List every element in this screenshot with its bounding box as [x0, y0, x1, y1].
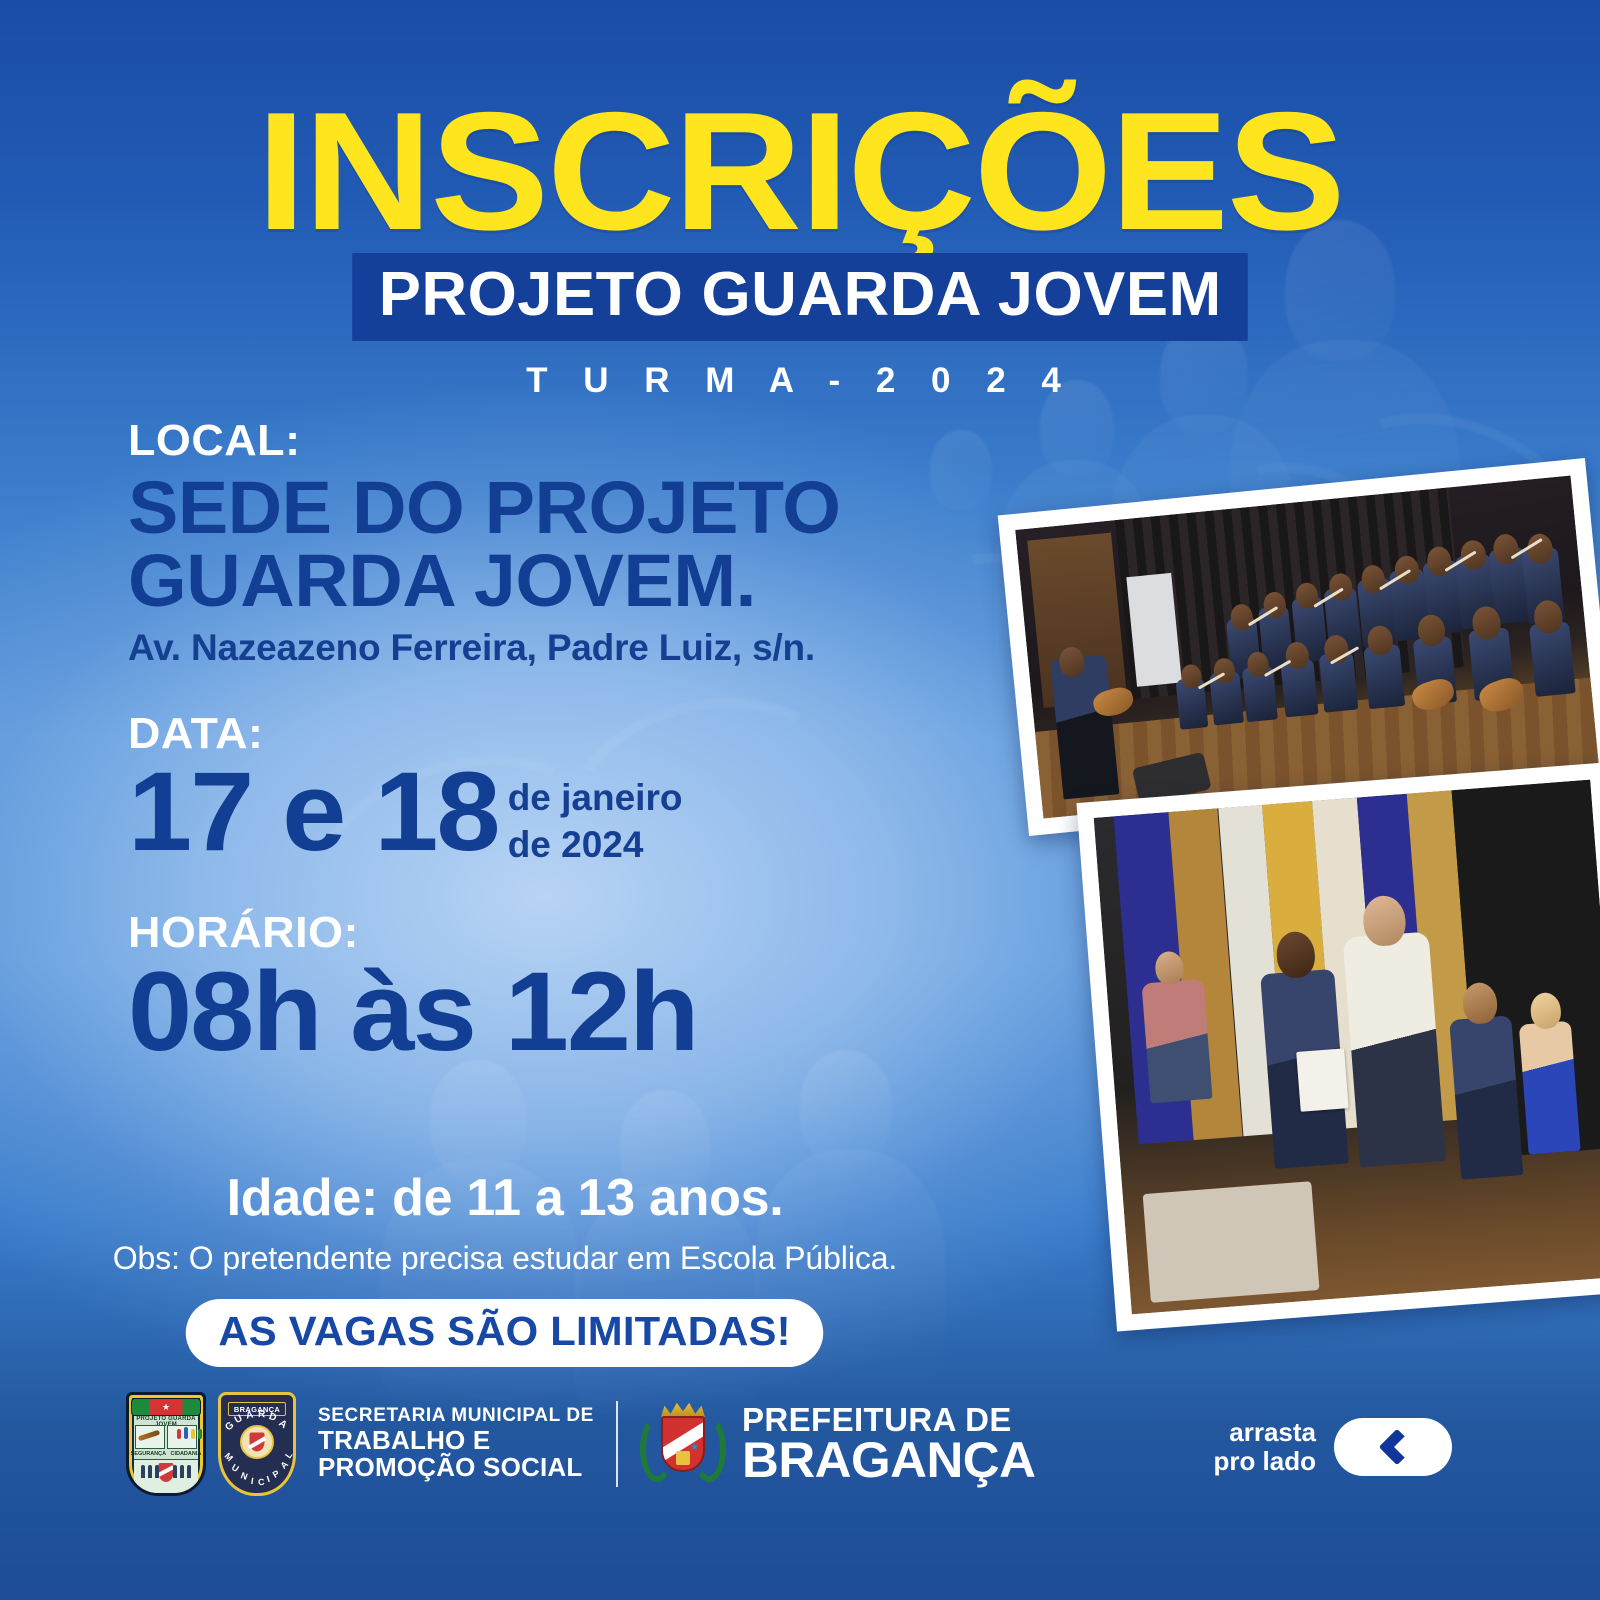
status-badge: AS VAGAS SÃO LIMITADAS! [186, 1299, 824, 1367]
date-month: de janeiro [508, 775, 683, 821]
age-requirement: Idade: de 11 a 13 anos. [0, 1168, 1010, 1228]
date-year: de 2024 [508, 822, 683, 868]
photo-band-inner [1015, 475, 1599, 818]
secretaria-text: SECRETARIA MUNICIPAL DE TRABALHO E PROMO… [318, 1406, 594, 1481]
info-column: LOCAL: SEDE DO PROJETO GUARDA JOVEM. Av.… [128, 418, 928, 1066]
page-subtitle: PROJETO GUARDA JOVEM [352, 253, 1248, 341]
secretaria-line2: TRABALHO E [318, 1427, 594, 1455]
swipe-hint[interactable]: arrasta pro lado [1213, 1418, 1452, 1476]
crest-guarda-municipal-icon: BRAGANÇA G U A R D A M U N I C I P A L [206, 1392, 296, 1496]
time-value: 08h às 12h [128, 958, 952, 1066]
footer-logos: ★ PROJETO GUARDA JOVEM SEGURANÇA CIDADAN… [126, 1392, 1030, 1496]
address-text: Av. Nazeazeno Ferreira, Padre Luiz, s/n. [128, 627, 928, 669]
class-line: T U R M A - 2 0 2 4 [0, 361, 1600, 401]
local-group: LOCAL: SEDE DO PROJETO GUARDA JOVEM. Av.… [128, 418, 928, 669]
local-value: SEDE DO PROJETO GUARDA JOVEM. [128, 472, 944, 617]
swipe-line2: pro lado [1213, 1447, 1316, 1476]
secretaria-line1: SECRETARIA MUNICIPAL DE [318, 1406, 594, 1426]
footer-divider [616, 1401, 618, 1487]
pgj-right-text: CIDADANIA [170, 1451, 201, 1457]
crest-projeto-guarda-jovem-icon: ★ PROJETO GUARDA JOVEM SEGURANÇA CIDADAN… [126, 1392, 206, 1496]
local-label: LOCAL: [128, 418, 944, 464]
limited-badge-wrap: AS VAGAS SÃO LIMITADAS! [0, 1299, 1010, 1367]
headline-block: INSCRIÇÕES PROJETO GUARDA JOVEM T U R M … [0, 96, 1600, 401]
subtitle-banner: PROJETO GUARDA JOVEM [0, 253, 1600, 341]
secretaria-line3: PROMOÇÃO SOCIAL [318, 1454, 594, 1482]
prefeitura-text: PREFEITURA DE BRAGANÇA [742, 1404, 1030, 1484]
photo-certificate-ceremony [1076, 762, 1600, 1331]
time-group: HORÁRIO: 08h às 12h [128, 910, 928, 1066]
date-line: 17 e 18 de janeiro de 2024 [128, 759, 928, 868]
date-group: DATA: 17 e 18 de janeiro de 2024 [128, 711, 928, 868]
photo-certificate-inner [1094, 780, 1600, 1315]
date-side: de janeiro de 2024 [508, 775, 683, 868]
coat-of-arms-braganca-icon: ★ [640, 1398, 726, 1490]
date-value: 17 e 18 [128, 759, 498, 864]
local-value-line1: SEDE DO PROJETO [128, 472, 944, 545]
local-value-line2: GUARDA JOVEM. [128, 545, 944, 618]
swipe-text: arrasta pro lado [1213, 1418, 1316, 1476]
requirements-block: Idade: de 11 a 13 anos. Obs: O pretenden… [0, 1168, 1010, 1367]
swipe-button[interactable] [1334, 1418, 1452, 1476]
school-note: Obs: O pretendente precisa estudar em Es… [0, 1240, 1010, 1277]
chevron-left-icon [1378, 1429, 1415, 1466]
poster-root: INSCRIÇÕES PROJETO GUARDA JOVEM T U R M … [0, 0, 1600, 1600]
swipe-line1: arrasta [1213, 1418, 1316, 1447]
pgj-left-text: SEGURANÇA [131, 1451, 166, 1457]
page-title: INSCRIÇÕES [0, 96, 1600, 247]
prefeitura-line2: BRAGANÇA [742, 1436, 1035, 1484]
